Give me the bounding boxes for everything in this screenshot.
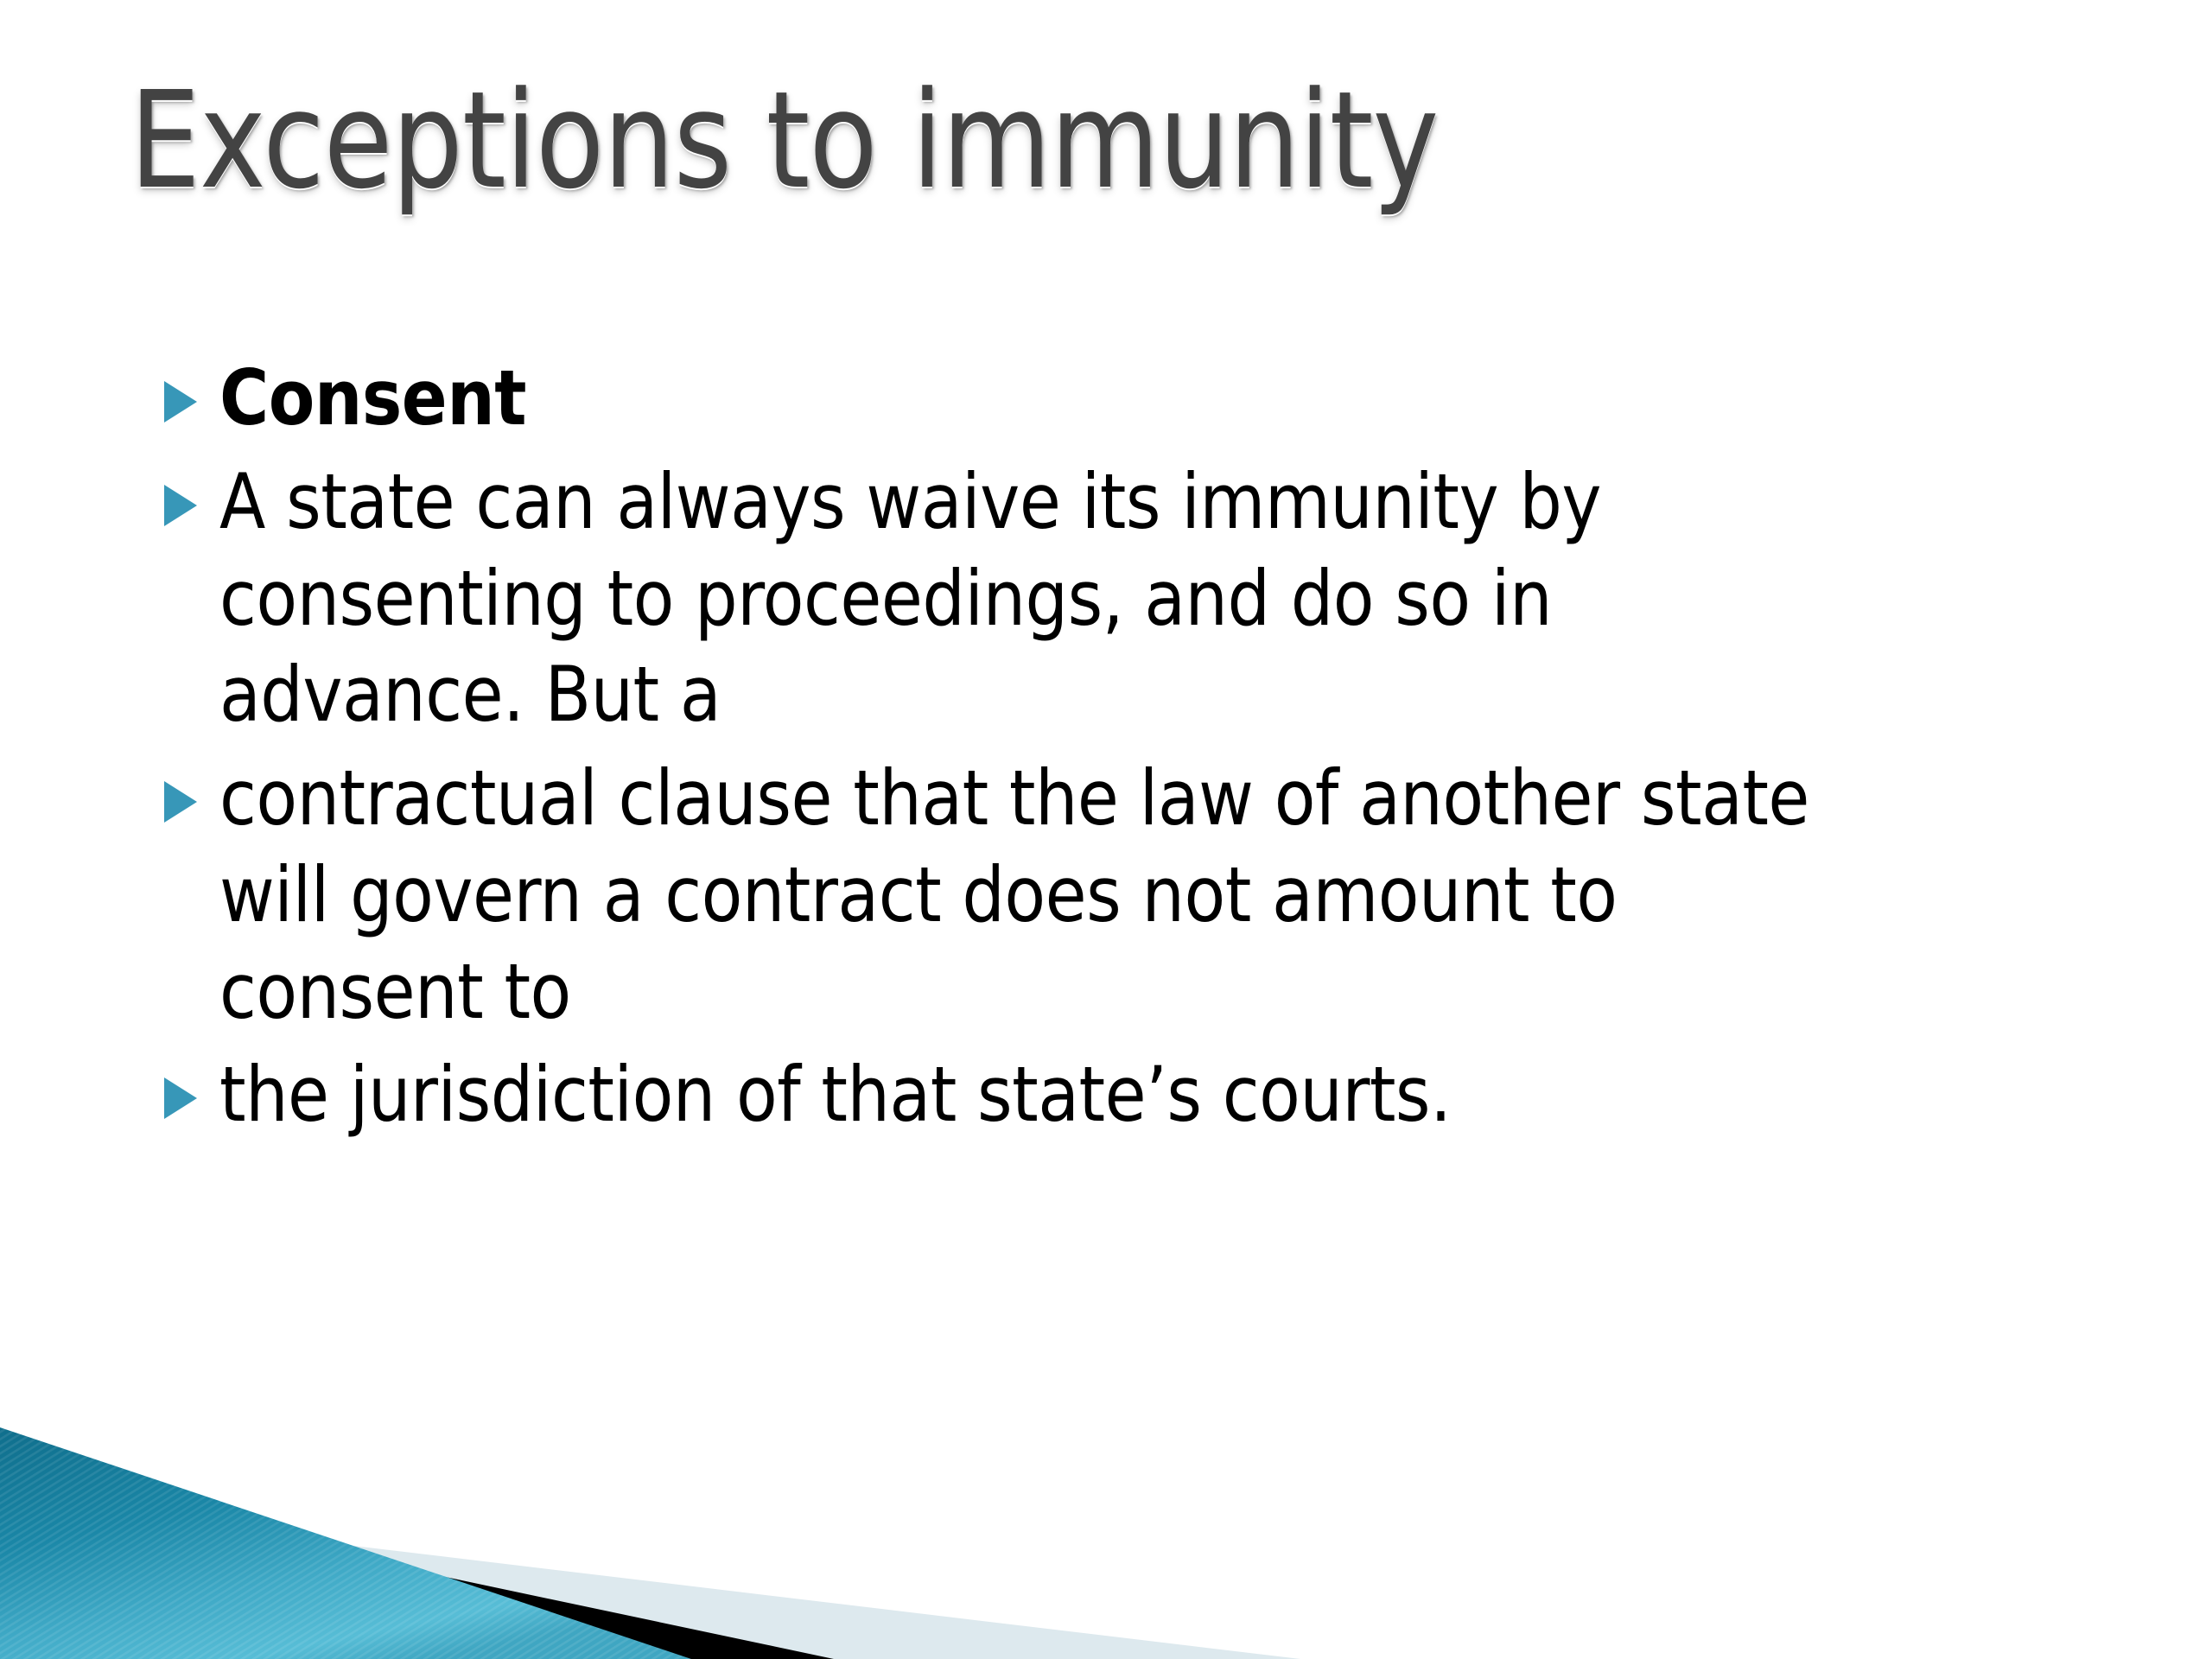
list-item: contractual clause that the law of anoth… [161,750,1889,1039]
slide-canvas: Exceptions to immunity Consent A state c… [0,0,2212,1659]
list-item-label: the jurisdiction of that state’s courts. [219,1046,1864,1143]
pale-band-shape [0,1503,1300,1659]
bullet-list: Consent A state can always waive its imm… [161,350,1889,1150]
corner-decoration-graphic [0,1374,1348,1659]
triangle-right-bullet-icon [161,454,219,528]
black-stripe-shape [0,1483,834,1659]
list-item: the jurisdiction of that state’s courts. [161,1046,1889,1143]
page-title: Exceptions to immunity [130,67,1946,215]
triangle-right-bullet-icon [161,750,219,824]
triangle-right-bullet-icon [161,350,219,424]
list-item-label: Consent [219,350,1864,447]
triangle-right-bullet-icon [161,1046,219,1121]
list-item: Consent [161,350,1889,447]
teal-triangle-shape [0,1427,691,1659]
list-item-label: contractual clause that the law of anoth… [219,750,1864,1039]
list-item-label: A state can always waive its immunity by… [219,454,1864,743]
list-item: A state can always waive its immunity by… [161,454,1889,743]
